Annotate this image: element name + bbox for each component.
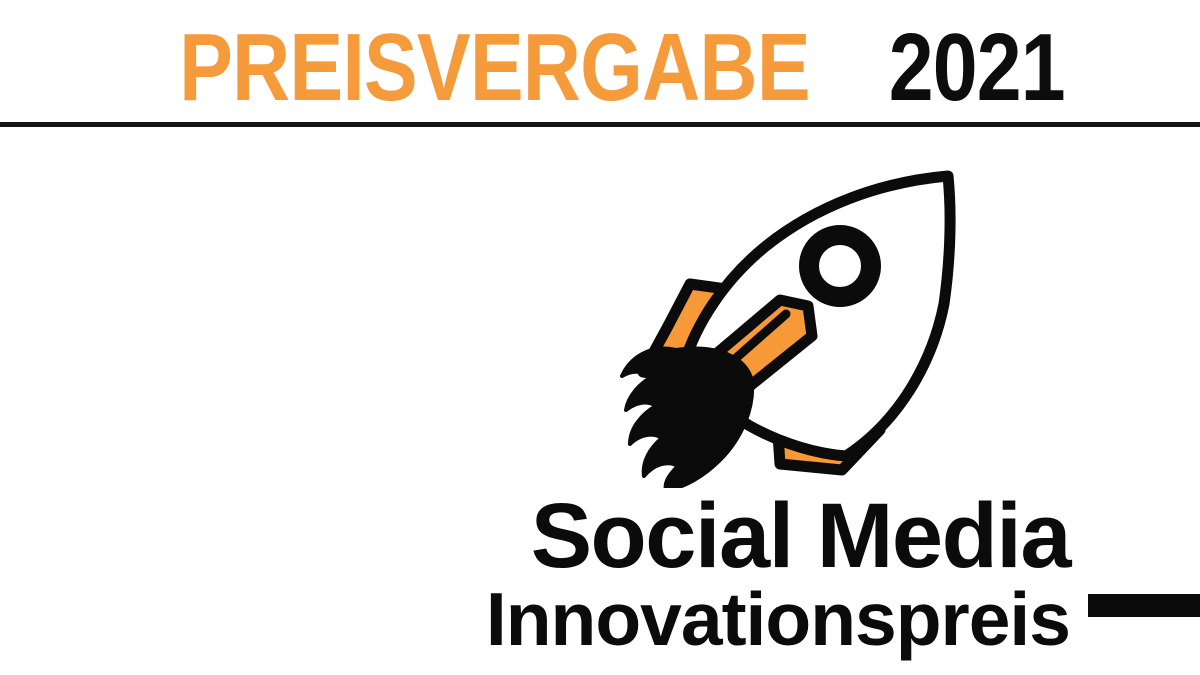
logo-wordmark: Social Media Innovationspreis bbox=[0, 492, 1070, 656]
rocket-illustration-svg bbox=[580, 158, 970, 488]
rocket-icon bbox=[580, 158, 970, 488]
rocket-porthole-icon bbox=[809, 235, 871, 297]
poster-canvas: PREISVERGABE 2021 Social Media Innovatio… bbox=[0, 0, 1200, 675]
header-divider-rule bbox=[0, 122, 1200, 127]
header-banner: PREISVERGABE 2021 bbox=[0, 18, 1200, 118]
accent-bar bbox=[1088, 594, 1200, 617]
wordmark-line-one: Social Media bbox=[0, 492, 1070, 581]
wordmark-line-two: Innovationspreis bbox=[0, 583, 1070, 656]
header-highlight-word: PREISVERGABE bbox=[179, 20, 810, 116]
rocket-flame bbox=[622, 349, 752, 488]
header-year: 2021 bbox=[888, 20, 1064, 116]
